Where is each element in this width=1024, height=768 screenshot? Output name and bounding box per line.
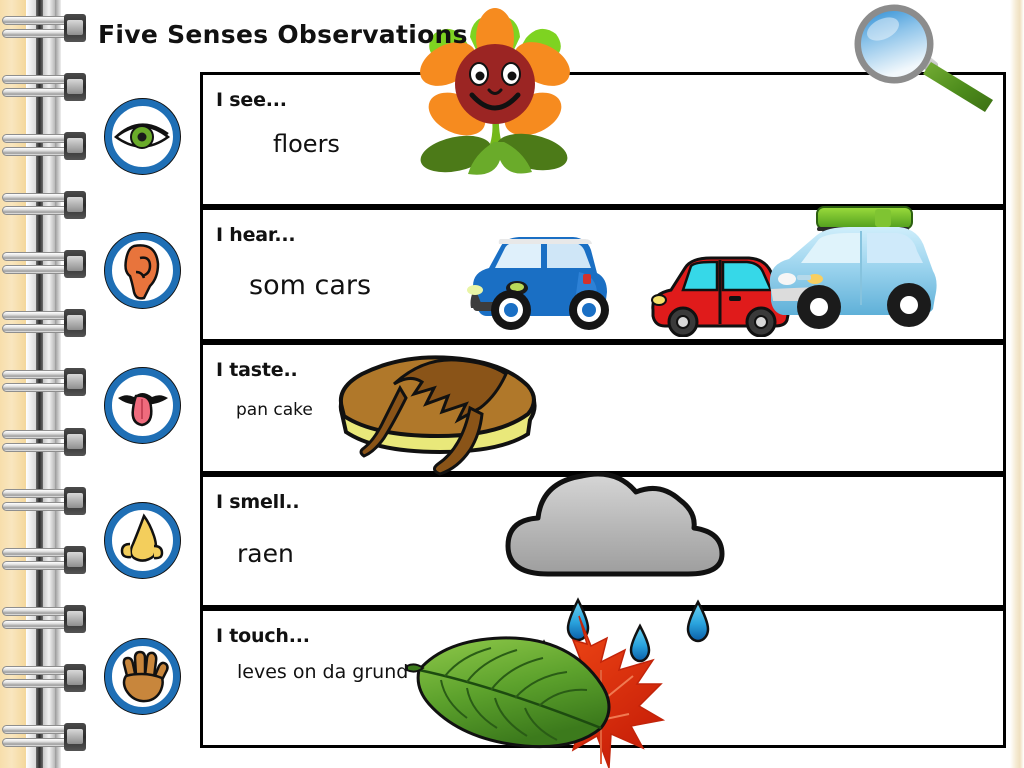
blue-smart-car-clipart (455, 228, 625, 333)
spiral-ring (2, 487, 86, 517)
spiral-ring (2, 546, 86, 576)
spiral-ring (2, 309, 86, 339)
answer-see[interactable]: floers (273, 130, 340, 158)
sidebar-item-see[interactable] (100, 94, 185, 179)
sidebar-item-smell[interactable] (100, 498, 185, 583)
spiral-ring (2, 250, 86, 280)
answer-taste[interactable]: pan cake (236, 400, 313, 420)
prompt-hear: I hear... (216, 224, 295, 246)
answer-smell[interactable]: raen (237, 539, 294, 568)
spiral-ring (2, 73, 86, 103)
prompt-smell: I smell.. (216, 491, 299, 513)
leaves-clipart (405, 608, 725, 768)
page-title: Five Senses Observations (98, 20, 468, 49)
prompt-touch: I touch... (216, 625, 310, 647)
spiral-ring (2, 428, 86, 458)
light-blue-car-with-luggage-clipart (757, 205, 947, 335)
answer-hear[interactable]: som cars (249, 270, 371, 301)
answer-touch[interactable]: leves on da grund (237, 661, 408, 683)
spiral-ring (2, 723, 86, 753)
spiral-ring (2, 368, 86, 398)
spiral-ring (2, 664, 86, 694)
sidebar-item-hear[interactable] (100, 228, 185, 313)
prompt-taste: I taste.. (216, 359, 298, 381)
page-right-edge (1010, 0, 1024, 768)
gray-rain-cloud-clipart (490, 462, 740, 617)
sidebar-item-touch[interactable] (100, 634, 185, 719)
spiral-ring (2, 132, 86, 162)
magnifying-glass-icon (845, 4, 1010, 112)
prompt-see: I see... (216, 89, 287, 111)
sidebar-item-taste[interactable] (100, 363, 185, 448)
table-row-taste[interactable]: I taste.. pan cake (200, 342, 1006, 474)
spiral-ring (2, 605, 86, 635)
spiral-ring (2, 191, 86, 221)
notebook-spiral-binding (0, 0, 96, 768)
spiral-ring (2, 14, 86, 44)
